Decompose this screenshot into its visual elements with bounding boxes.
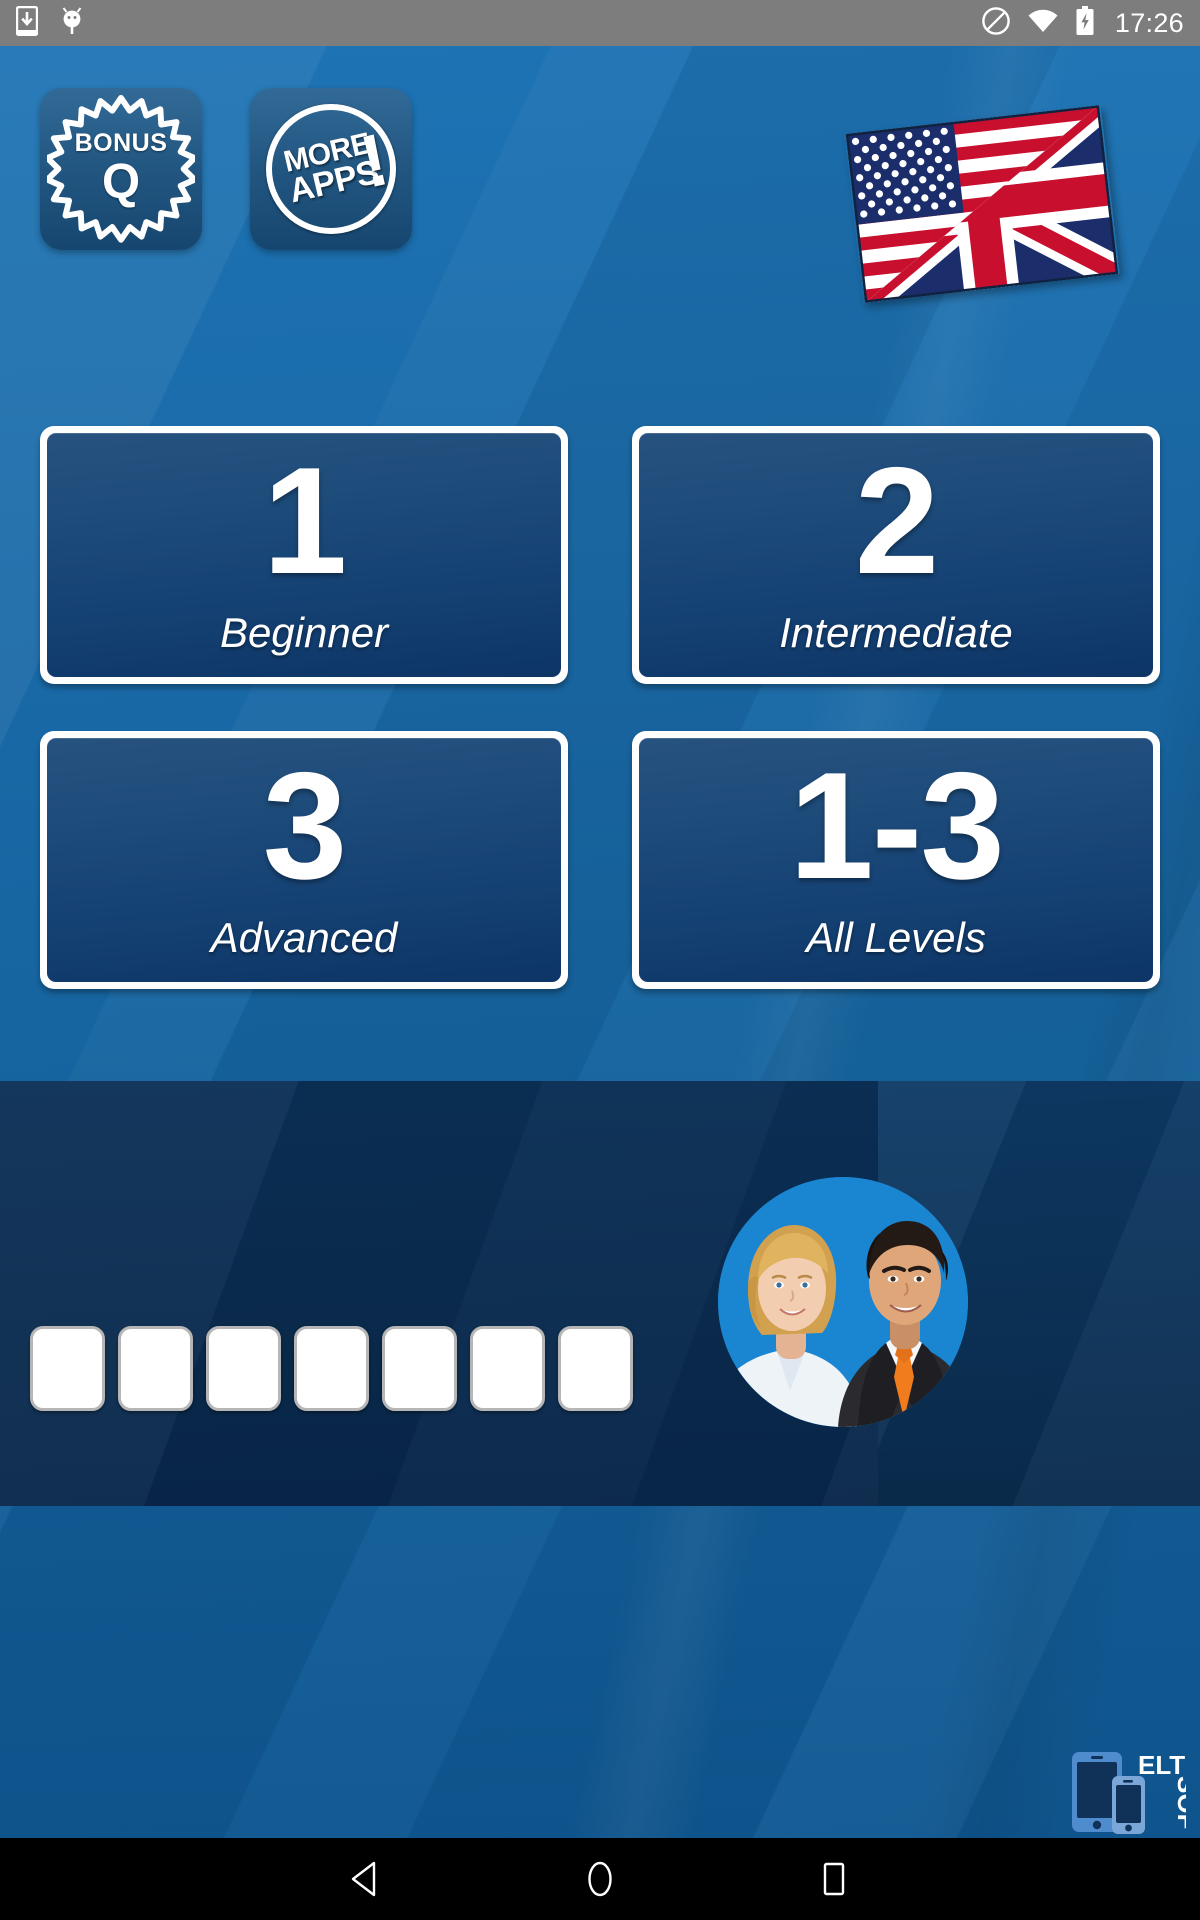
home-circle-icon [585, 1859, 615, 1899]
status-bar: 17:26 [0, 0, 1200, 46]
elt-soft-logo: ELT SOFT [1064, 1746, 1186, 1834]
level-card-number: 2 [855, 445, 938, 597]
android-nav-bar [0, 1838, 1200, 1920]
back-button[interactable] [335, 1848, 397, 1910]
level-card-label: Beginner [47, 609, 561, 657]
elt-soft-logo-icon: ELT SOFT [1064, 1746, 1186, 1834]
svg-text:SOFT: SOFT [1172, 1776, 1186, 1834]
starburst-icon [47, 95, 195, 243]
teacher-avatar-image [718, 1177, 968, 1427]
home-button[interactable] [569, 1848, 631, 1910]
status-bar-left [16, 6, 84, 41]
level-card-label: Intermediate [639, 609, 1153, 657]
level-card-intermediate[interactable]: 2 Intermediate [632, 426, 1160, 684]
answer-tile[interactable] [206, 1326, 281, 1411]
level-card-number: 3 [263, 750, 346, 902]
answer-tile[interactable] [30, 1326, 105, 1411]
answer-tile[interactable] [558, 1326, 633, 1411]
level-card-label: Advanced [47, 914, 561, 962]
level-card-all-levels[interactable]: 1-3 All Levels [632, 731, 1160, 989]
bonus-q-button[interactable]: BONUS Q [40, 88, 202, 250]
do-not-disturb-icon [981, 6, 1011, 41]
recents-square-icon [821, 1861, 847, 1897]
teacher-avatar[interactable] [718, 1177, 968, 1427]
level-card-inner: 2 Intermediate [639, 433, 1153, 677]
level-card-beginner[interactable]: 1 Beginner [40, 426, 568, 684]
answer-tile[interactable] [294, 1326, 369, 1411]
answer-tile[interactable] [118, 1326, 193, 1411]
answer-tiles [30, 1326, 633, 1411]
recents-button[interactable] [803, 1848, 865, 1910]
answer-tile[interactable] [382, 1326, 457, 1411]
android-debug-icon [60, 6, 84, 41]
level-card-number: 1-3 [789, 750, 1003, 902]
status-bar-right: 17:26 [981, 6, 1184, 41]
us-uk-flag-icon [844, 105, 1120, 303]
bonus-badge: BONUS Q [47, 95, 195, 243]
level-card-inner: 3 Advanced [47, 738, 561, 982]
level-card-number: 1 [263, 445, 346, 597]
more-apps-button[interactable]: MORE APPS ! [250, 88, 412, 250]
level-card-inner: 1 Beginner [47, 433, 561, 677]
back-triangle-icon [349, 1860, 383, 1898]
screen-root: 17:26 BONUS Q MORE APPS [0, 0, 1200, 1920]
more-apps-badge: MORE APPS ! [258, 96, 404, 242]
level-grid: 1 Beginner 2 Intermediate 3 Advanced 1-3 [40, 426, 1160, 986]
level-card-label: All Levels [639, 914, 1153, 962]
app-content: BONUS Q MORE APPS ! [0, 46, 1200, 1838]
battery-charging-icon [1075, 6, 1095, 41]
status-bar-clock: 17:26 [1111, 8, 1184, 39]
level-card-advanced[interactable]: 3 Advanced [40, 731, 568, 989]
download-icon [16, 6, 38, 41]
level-card-inner: 1-3 All Levels [639, 738, 1153, 982]
answer-panel [0, 1081, 1200, 1506]
us-uk-flag[interactable] [844, 105, 1120, 303]
wifi-icon [1027, 8, 1059, 39]
answer-tile[interactable] [470, 1326, 545, 1411]
